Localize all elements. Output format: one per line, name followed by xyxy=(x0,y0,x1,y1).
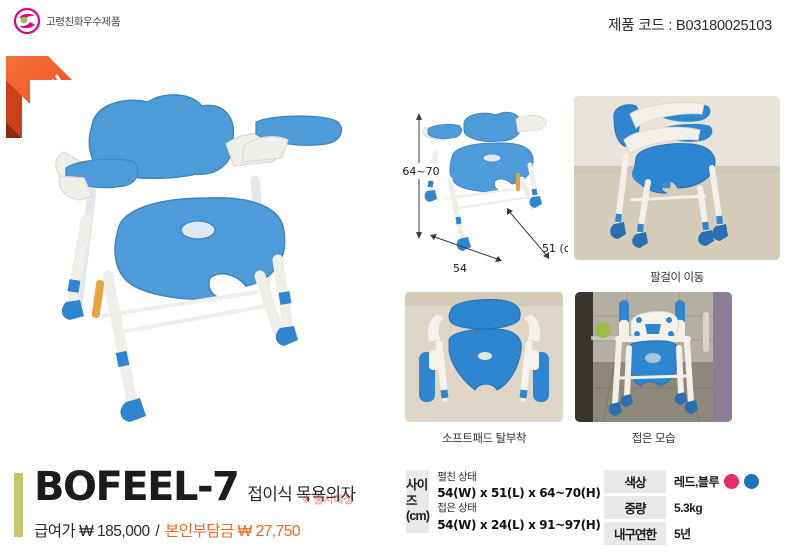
page-header: 고령친화우수제품 제품 코드 : B03180025103 xyxy=(0,0,788,46)
color-swatch-red xyxy=(724,474,739,489)
size-dims-unfolded: 54(W) x 51(L) x 64~70(H) xyxy=(437,485,600,501)
spec-key-weight: 중량 xyxy=(604,496,666,519)
soft-pad-detach-caption: 소프트패드 탈부착 xyxy=(405,430,563,446)
spec-key-durability: 내구연한 xyxy=(604,522,666,545)
own-payment-value: ₩ 27,750 xyxy=(238,523,300,540)
dimension-width-label: 54 xyxy=(453,262,467,275)
size-spec-label: 사이즈 (cm) xyxy=(406,470,429,533)
standard-price-label: 급여가 xyxy=(34,523,75,540)
spec-value-durability: 5년 xyxy=(666,525,691,542)
spec-row-durability: 내구연한 5년 xyxy=(604,522,784,545)
product-code: 제품 코드 : B03180025103 xyxy=(608,14,772,35)
standard-price-value: ₩ 185,000 xyxy=(79,523,149,540)
product-subtitle: 접이식 목욕의자 xyxy=(247,480,355,505)
size-dims-folded: 54(W) x 24(L) x 91~97(H) xyxy=(437,517,600,533)
title-accent-bar xyxy=(14,473,23,537)
certification-badge: 고령친화우수제품 xyxy=(14,8,120,34)
dimension-diagram: 64~70 54 51 (cm) xyxy=(400,105,568,275)
spec-row-weight: 중량 5.3kg xyxy=(604,496,784,519)
soft-pad-detach-photo[interactable] xyxy=(405,292,563,422)
spec-row-color: 색상 레드,블루 xyxy=(604,470,784,493)
size-state-folded: 접은 상태 xyxy=(437,501,600,516)
folded-view-caption: 접은 모습 xyxy=(575,430,732,446)
certification-label: 고령친화우수제품 xyxy=(46,14,120,29)
spec-key-color: 색상 xyxy=(604,470,666,493)
product-title-row: BOFEEL-7 접이식 목욕의자 xyxy=(34,467,355,507)
folded-view-photo[interactable] xyxy=(575,292,732,422)
size-spec-values: 펼친 상태 54(W) x 51(L) x 64~70(H) 접은 상태 54(… xyxy=(429,470,600,533)
size-label-line2: (cm) xyxy=(406,509,429,525)
armrest-move-photo[interactable] xyxy=(574,96,780,260)
dimension-depth-label: 51 (cm) xyxy=(542,242,568,255)
size-spec-table: 사이즈 (cm) 펼친 상태 54(W) x 51(L) x 64~70(H) … xyxy=(406,470,588,533)
product-model-name: BOFEEL-7 xyxy=(34,467,238,507)
price-separator: / xyxy=(153,523,161,540)
armrest-move-caption: 팔걸이 이동 xyxy=(574,269,780,285)
main-product-photo: ※ 출시예정 xyxy=(30,80,370,435)
size-label-line1: 사이즈 xyxy=(406,478,429,509)
senior-friendly-excellent-product-logo xyxy=(14,8,40,34)
own-payment-label: 본인부담금 xyxy=(165,523,234,540)
color-value-text: 레드,블루 xyxy=(674,473,719,490)
attribute-spec-table: 색상 레드,블루 중량 5.3kg 내구연한 5년 xyxy=(604,470,784,545)
spec-value-weight: 5.3kg xyxy=(666,501,702,515)
price-row: 급여가 ₩ 185,000 / 본인부담금 ₩ 27,750 xyxy=(34,519,300,541)
size-state-unfolded: 펼친 상태 xyxy=(437,470,600,485)
product-title-block: BOFEEL-7 접이식 목욕의자 급여가 ₩ 185,000 / 본인부담금 … xyxy=(14,473,384,541)
color-swatch-blue xyxy=(744,474,759,489)
spec-value-color: 레드,블루 xyxy=(666,473,759,490)
dimension-height-label: 64~70 xyxy=(402,165,439,178)
product-catalog-page: 고령친화우수제품 제품 코드 : B03180025103 new xyxy=(0,0,788,553)
